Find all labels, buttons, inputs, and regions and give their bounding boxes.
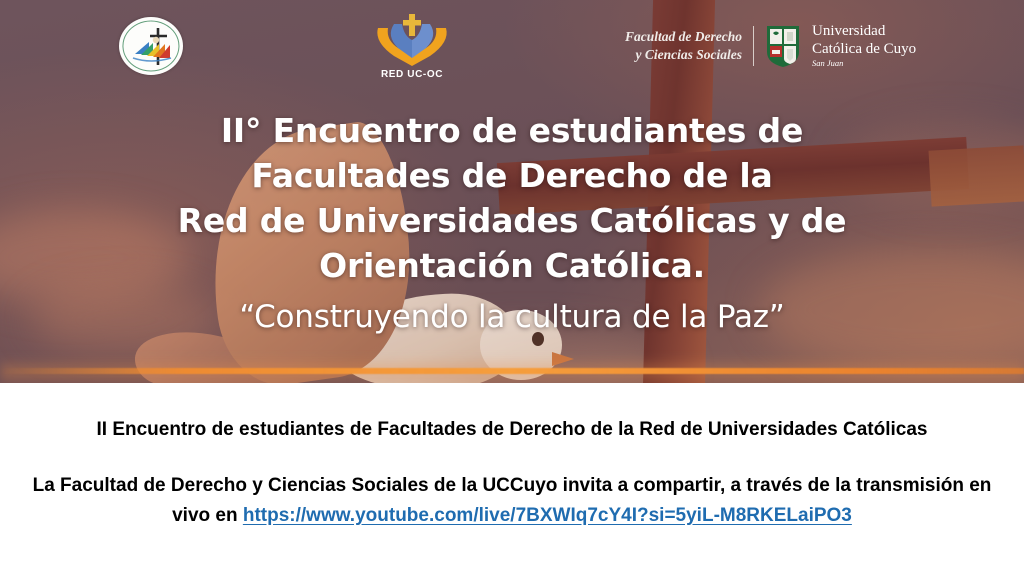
event-title-line-1: II° Encuentro de estudiantes de (0, 108, 1024, 153)
university-name-line1: Universidad (812, 23, 916, 40)
description-part-1: La Facultad de Derecho y Ciencias Social… (33, 475, 851, 496)
red-uc-oc-label: RED UC-OC (369, 69, 455, 80)
orange-accent-line (0, 368, 1024, 374)
faculty-name-line2: y Ciencias Sociales (625, 46, 742, 64)
university-name-line2: Católica de Cuyo (812, 41, 916, 58)
event-caption: II Encuentro de estudiantes de Facultade… (0, 419, 1024, 441)
logo-divider (753, 26, 754, 66)
event-title-line-4: Orientación Católica. (0, 243, 1024, 288)
event-banner: RED UC-OC Facultad de Derecho y Ciencias… (0, 0, 1024, 383)
red-universidades-catolicas-circular-logo (119, 17, 183, 75)
faculty-name-line1: Facultad de Derecho (625, 28, 742, 46)
universidad-catolica-de-cuyo-crest (765, 24, 801, 68)
university-name: Universidad Católica de Cuyo San Juan (812, 23, 916, 69)
description-section: II Encuentro de estudiantes de Facultade… (0, 383, 1024, 576)
university-campus-line: San Juan (812, 59, 916, 69)
circular-logo-artwork (119, 17, 183, 75)
event-title-line-3: Red de Universidades Católicas y de (0, 198, 1024, 243)
event-subtitle: “Construyendo la cultura de la Paz” (0, 294, 1024, 340)
university-logo-lockup: Facultad de Derecho y Ciencias Sociales … (625, 22, 916, 70)
event-description: La Facultad de Derecho y Ciencias Social… (24, 471, 1000, 531)
event-title-line-2: Facultades de Derecho de la (0, 153, 1024, 198)
faculty-name: Facultad de Derecho y Ciencias Sociales (625, 28, 742, 64)
red-uc-oc-logo: RED UC-OC (369, 12, 455, 84)
event-title-block: II° Encuentro de estudiantes de Facultad… (0, 108, 1024, 340)
slide-page: RED UC-OC Facultad de Derecho y Ciencias… (0, 0, 1024, 576)
red-uc-oc-emblem-icon (372, 12, 452, 68)
youtube-live-link[interactable]: https://www.youtube.com/live/7BXWIq7cY4I… (243, 505, 852, 526)
